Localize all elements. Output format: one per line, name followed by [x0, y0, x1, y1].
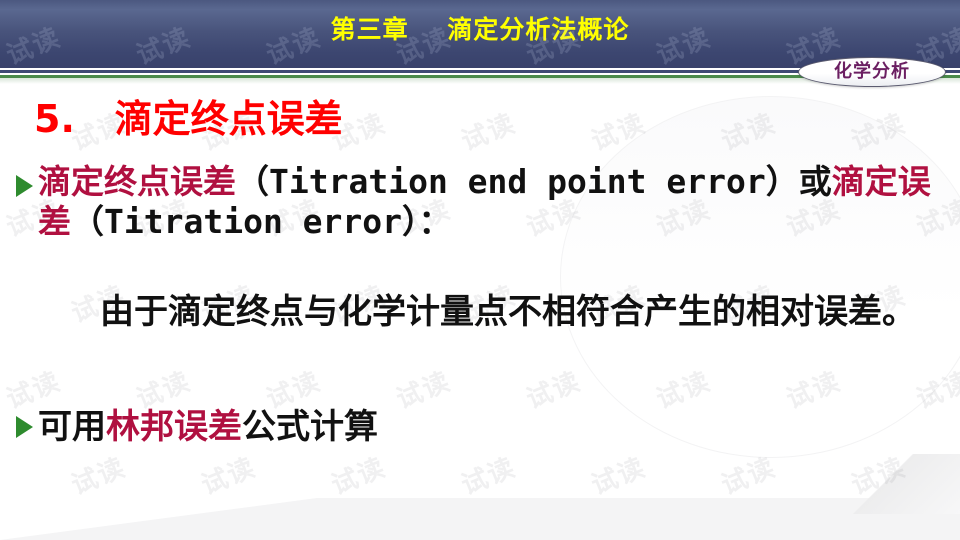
course-badge-label: 化学分析 [799, 58, 945, 86]
green-triangle-bullet-icon [16, 416, 33, 438]
bullet-0-run-4: （Titration error） [71, 202, 419, 241]
slide-content: 5. 滴定终点误差 滴定终点误差（Titration end point err… [0, 84, 960, 540]
bullet-text-definition: 滴定终点误差（Titration end point error）或滴定误差（T… [38, 162, 936, 242]
presentation-slide: 试读试读试读试读试读试读试读试读试读试读试读试读试读试读试读试读试读试读试读试读… [0, 0, 960, 540]
bullet-0-run-1: （Titration end point error） [236, 162, 799, 201]
bullet-text-formula: 可用林邦误差公式计算 [38, 406, 936, 448]
bullet-item-definition: 滴定终点误差（Titration end point error）或滴定误差（T… [16, 162, 936, 242]
bullet-0-run-5: ： [419, 202, 452, 241]
course-badge: 化学分析 [798, 57, 946, 87]
bullet-1-run-2: 公式计算 [242, 407, 378, 447]
body-paragraph: 由于滴定终点与化学计量点不相符合产生的相对误差。 [24, 290, 934, 335]
section-heading: 5. 滴定终点误差 [34, 88, 343, 143]
green-triangle-bullet-icon [16, 175, 33, 197]
bullet-1-run-1: 林邦误差 [106, 407, 242, 447]
bullet-item-formula: 可用林邦误差公式计算 [16, 406, 936, 448]
slide-header-title: 第三章 滴定分析法概论 [0, 0, 960, 60]
bullet-0-run-2: 或 [799, 162, 832, 201]
bullet-0-run-0: 滴定终点误差 [38, 162, 236, 201]
bullet-1-run-0: 可用 [38, 407, 106, 447]
